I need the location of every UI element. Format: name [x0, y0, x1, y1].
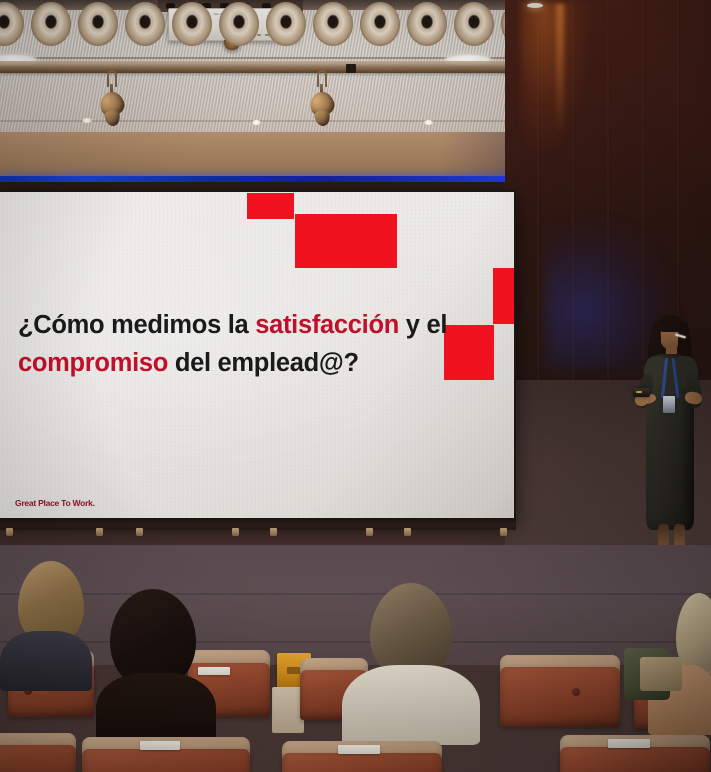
spotlight-icon [95, 70, 129, 132]
track-junction-box [346, 64, 356, 73]
audience-back-wall [0, 545, 711, 665]
slide-decor-block-lower [444, 325, 494, 380]
auditorium-scene: CEILING EQUIPMENT PANEL projector mount [0, 0, 711, 772]
recessed-downlight [219, 2, 259, 46]
recessed-downlight [266, 2, 306, 46]
recessed-downlight [360, 2, 400, 46]
slide-decor-block-right-narrow [493, 268, 514, 324]
seat-number-plate [198, 667, 230, 675]
slide-decor-block-top-small [247, 193, 294, 219]
audience-member-body [96, 673, 216, 743]
seat-number-plate [338, 745, 380, 754]
recessed-downlight [31, 2, 71, 46]
slide-text-part-2: y el [399, 311, 447, 339]
screen-foot [500, 528, 507, 536]
seat-back[interactable] [82, 749, 250, 772]
wall-warm-glow [520, 2, 590, 152]
ceiling-pin-light [82, 118, 92, 123]
seat-back[interactable] [282, 753, 442, 772]
recessed-downlight [172, 2, 212, 46]
ceiling-pin-light [424, 120, 433, 125]
wall-spot-fixture [527, 3, 543, 8]
recessed-downlight [407, 2, 447, 46]
screen-foot [270, 528, 277, 536]
recessed-downlight [125, 2, 165, 46]
wall-warm-streak [556, 4, 564, 134]
lanyard-badge [663, 396, 675, 413]
wall-seam [0, 593, 711, 595]
audience-member-body [342, 665, 480, 745]
audience-member-body [0, 631, 92, 691]
screen-foot [232, 528, 239, 536]
seat-button[interactable] [572, 688, 580, 696]
slide-text-part-1: ¿Cómo medimos la [18, 311, 255, 339]
seat-back[interactable] [500, 667, 620, 727]
seat-number-plate [608, 739, 650, 748]
seat-back[interactable] [0, 745, 76, 772]
slide-headline: ¿Cómo medimos la satisfacción y elcompro… [18, 306, 448, 382]
audience-bag-flap [640, 657, 682, 691]
audience-area: A-12 [0, 545, 711, 772]
screen-foot [6, 528, 13, 536]
slide-decor-block-large [295, 214, 397, 268]
screen-foot [136, 528, 143, 536]
screen-foot [366, 528, 373, 536]
seat-number-plate [140, 741, 180, 750]
slide-text-part-3: del emplead@? [168, 349, 359, 377]
spotlight-icon [305, 70, 339, 132]
seat-back[interactable] [560, 747, 710, 772]
wall-seam [0, 641, 711, 643]
slide-text-highlight-satisfaccion: satisfacción [255, 311, 399, 339]
slide-text-highlight-compromiso: compromiso [18, 349, 168, 377]
ceiling-pin-light [252, 120, 261, 125]
screen-base [0, 518, 516, 530]
great-place-to-work-logo: Great Place To Work. [15, 498, 95, 508]
screen-foot [96, 528, 103, 536]
recessed-downlight [454, 2, 494, 46]
recessed-downlight [78, 2, 118, 46]
screen-foot [404, 528, 411, 536]
clicker-led-icon [636, 391, 642, 393]
recessed-downlight [313, 2, 353, 46]
